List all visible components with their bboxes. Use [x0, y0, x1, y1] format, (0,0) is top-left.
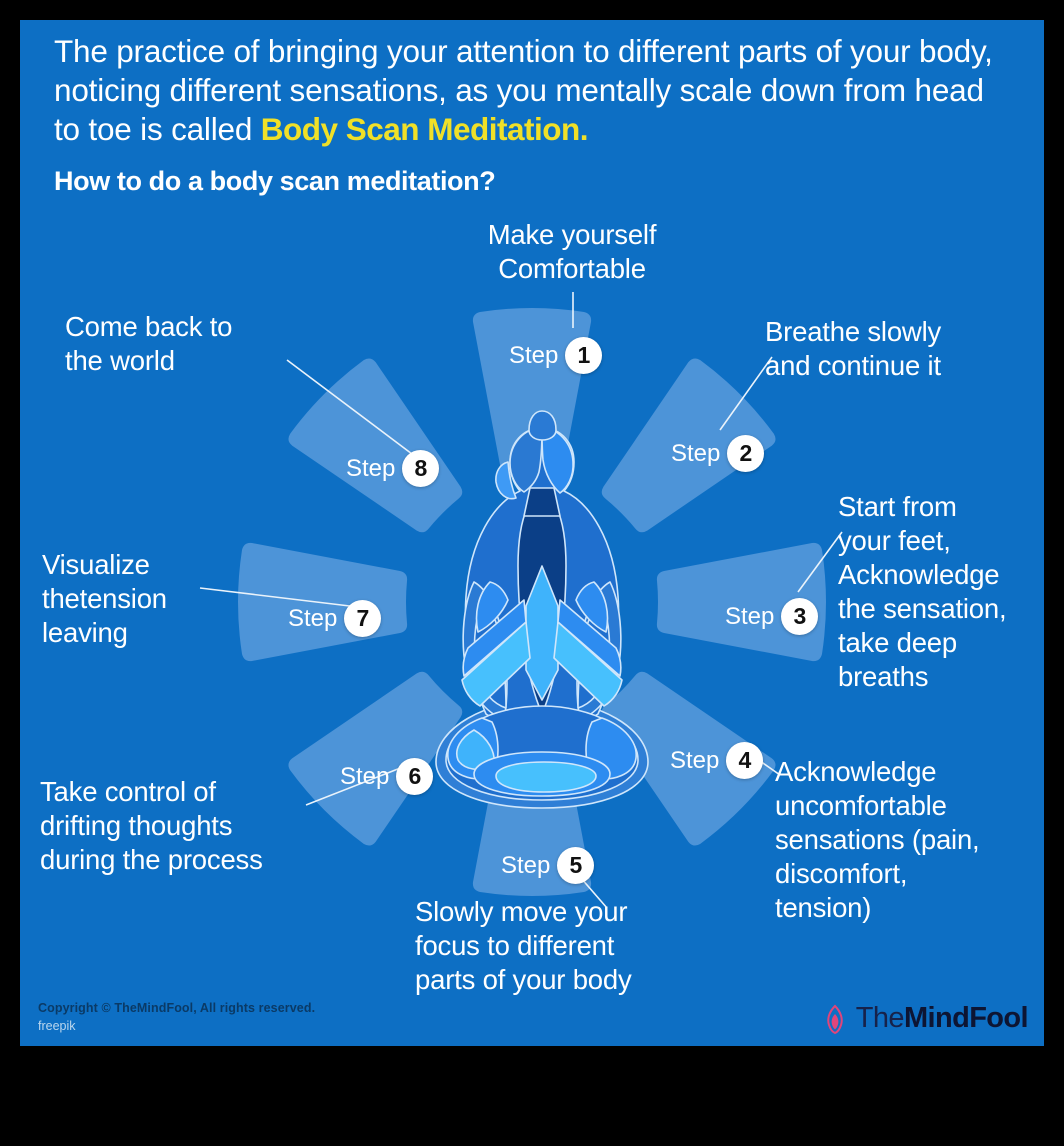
meditating-figure-illustration — [412, 370, 672, 840]
attribution-text: freepik — [38, 1019, 76, 1033]
step-badge-8[interactable]: Step 8 — [346, 450, 439, 487]
callout-text-5: Slowly move your focus to different part… — [415, 895, 715, 997]
step-label-6: Step — [340, 763, 389, 791]
step-label-7: Step — [288, 605, 337, 633]
step-label-4: Step — [670, 747, 719, 775]
step-badge-6[interactable]: Step 6 — [340, 758, 433, 795]
intro-paragraph: The practice of bringing your attention … — [54, 32, 1014, 149]
header: The practice of bringing your attention … — [54, 32, 1014, 197]
step-label-5: Step — [501, 852, 550, 880]
callout-text-4: Acknowledge uncomfortable sensations (pa… — [775, 755, 1040, 925]
step-number-5: 5 — [557, 847, 594, 884]
step-label-1: Step — [509, 342, 558, 370]
step-badge-2[interactable]: Step 2 — [671, 435, 764, 472]
callout-text-2: Breathe slowly and continue it — [765, 315, 1035, 383]
step-badge-4[interactable]: Step 4 — [670, 742, 763, 779]
brand-word-mindfool: MindFool — [904, 1002, 1028, 1034]
step-number-2: 2 — [727, 435, 764, 472]
callout-text-6: Take control of drifting thoughts during… — [40, 775, 340, 877]
step-badge-7[interactable]: Step 7 — [288, 600, 381, 637]
callout-text-7: Visualize thetension leaving — [42, 548, 262, 650]
step-label-3: Step — [725, 603, 774, 631]
step-badge-1[interactable]: Step 1 — [509, 337, 602, 374]
callout-text-1: Make yourself Comfortable — [432, 218, 712, 286]
brand-wordmark: TheMindFool — [856, 1002, 1028, 1035]
step-badge-3[interactable]: Step 3 — [725, 598, 818, 635]
step-label-8: Step — [346, 455, 395, 483]
step-number-8: 8 — [402, 450, 439, 487]
brand-word-the: The — [856, 1002, 904, 1034]
step-number-1: 1 — [565, 337, 602, 374]
copyright-text: Copyright © TheMindFool, All rights rese… — [38, 1001, 315, 1015]
callout-text-3: Start from your feet, Acknowledge the se… — [838, 490, 1044, 694]
step-label-2: Step — [671, 440, 720, 468]
step-number-4: 4 — [726, 742, 763, 779]
brand-logo[interactable]: TheMindFool — [821, 1002, 1028, 1035]
step-badge-5[interactable]: Step 5 — [501, 847, 594, 884]
callout-text-8: Come back to the world — [65, 310, 325, 378]
page-subtitle: How to do a body scan meditation? — [54, 166, 1014, 197]
lotus-icon — [821, 1003, 849, 1035]
step-number-3: 3 — [781, 598, 818, 635]
intro-highlight: Body Scan Meditation. — [261, 111, 588, 147]
step-number-6: 6 — [396, 758, 433, 795]
infographic-poster: The practice of bringing your attention … — [20, 20, 1044, 1046]
step-number-7: 7 — [344, 600, 381, 637]
